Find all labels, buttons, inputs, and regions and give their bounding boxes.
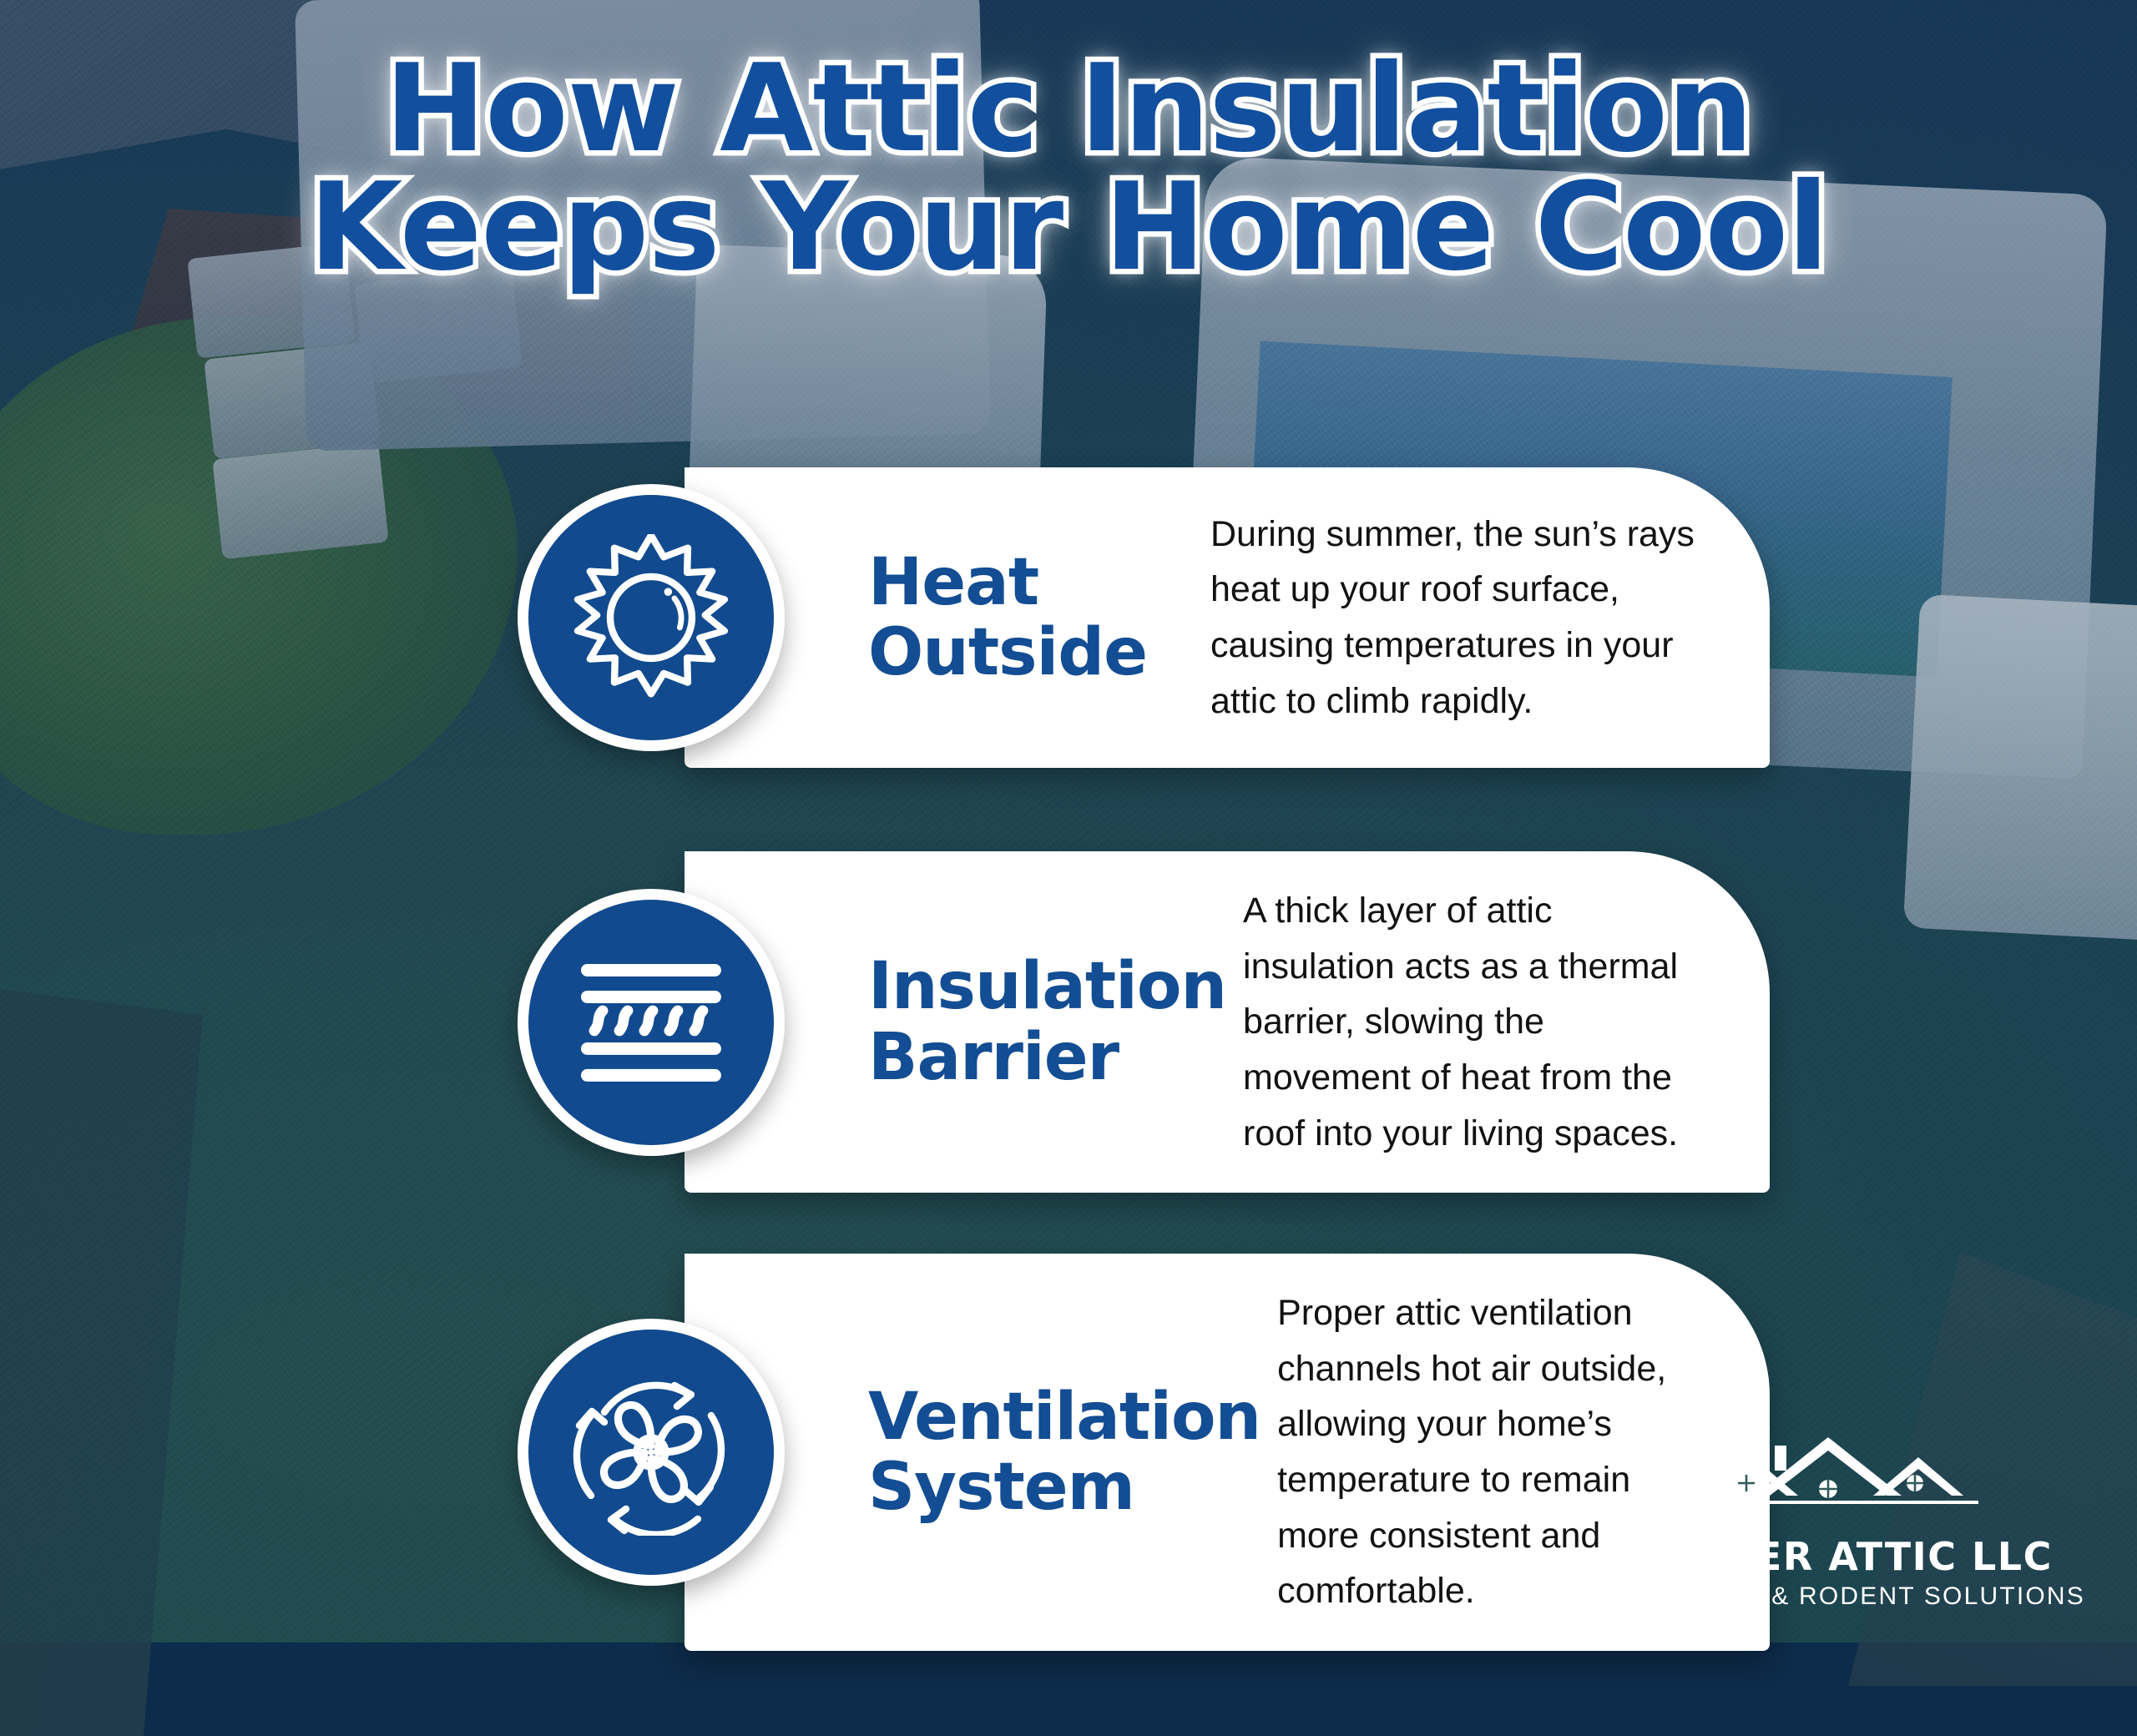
- insulation-layers-icon-badge: [518, 889, 785, 1156]
- info-card-heading: Ventilation System: [868, 1382, 1277, 1522]
- info-card-heading-line-1: Insulation: [868, 949, 1226, 1024]
- sun-icon-glyph: [568, 534, 735, 701]
- info-card-heat-outside: Heat Outside During summer, the sun’s ra…: [685, 467, 1770, 768]
- ventilation-fan-icon-glyph: [568, 1369, 735, 1536]
- sun-icon-badge: [518, 484, 785, 751]
- info-card-heading-line-1: Ventilation: [868, 1380, 1260, 1455]
- page-title: How Attic Insulation Keeps Your Home Coo…: [0, 50, 2137, 287]
- info-card-ventilation-system-row: Ventilation System Proper attic ventilat…: [551, 1254, 1636, 1651]
- page-title-line-1: How Attic Insulation: [0, 50, 2137, 169]
- info-card-insulation-barrier-row: Insulation Barrier A thick layer of atti…: [551, 851, 1636, 1193]
- three-roofs-icon: [1703, 1431, 1978, 1529]
- info-card-heading: Insulation Barrier: [868, 951, 1243, 1092]
- insulation-layers-icon-glyph: [568, 939, 735, 1106]
- company-tagline: INSULATION & RODENT SOLUTIONS: [1596, 1582, 2085, 1611]
- company-logo: MASTER ATTIC LLC INSULATION & RODENT SOL…: [1596, 1431, 2085, 1611]
- page-title-line-2: Keeps Your Home Cool: [0, 169, 2137, 287]
- info-card-body-text: During summer, the sun’s rays heat up yo…: [1210, 507, 1708, 729]
- info-card-body-text: A thick layer of attic insulation acts a…: [1243, 883, 1708, 1161]
- info-card-insulation-barrier: Insulation Barrier A thick layer of atti…: [685, 851, 1770, 1193]
- ventilation-fan-icon: [528, 1330, 774, 1575]
- sun-icon: [528, 495, 774, 740]
- insulation-layers-icon: [528, 900, 774, 1145]
- company-name: MASTER ATTIC LLC: [1596, 1534, 2085, 1579]
- info-card-heading: Heat Outside: [868, 548, 1210, 688]
- info-card-heat-outside-row: Heat Outside During summer, the sun’s ra…: [551, 467, 1636, 768]
- info-card-heading-line-1: Heat: [868, 545, 1038, 620]
- info-card-heading-line-2: Outside: [868, 618, 1194, 688]
- ventilation-fan-icon-badge: [518, 1319, 785, 1586]
- info-card-heading-line-2: Barrier: [868, 1022, 1226, 1093]
- info-card-heading-line-2: System: [868, 1452, 1260, 1522]
